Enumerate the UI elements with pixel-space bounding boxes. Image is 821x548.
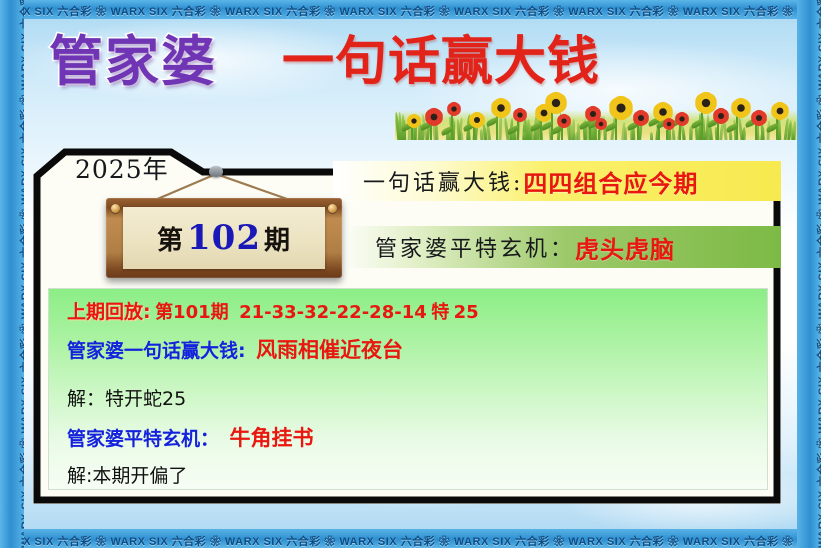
review-special-number: 25 (454, 302, 479, 323)
review-row-tagline: 管家婆一句话赢大钱: 风雨相催近夜台 (67, 334, 403, 364)
hook-icon (209, 166, 223, 177)
border-bottom: WARX SIX 六合彩 ❀ WARX SIX 六合彩 ❀ WARX SIX 六… (0, 529, 821, 548)
border-top: WARX SIX 六合彩 ❀ WARX SIX 六合彩 ❀ WARX SIX 六… (0, 0, 821, 19)
review-tagline-value: 风雨相催近夜台 (256, 338, 403, 362)
banner-mystery: 管家婆平特玄机： 虎头虎脑 (333, 226, 781, 268)
review-mystery-label: 管家婆平特玄机： (67, 428, 219, 450)
review-row-last-draw: 上期回放: 第101期 21-33-32-22-28-14 特 25 (67, 297, 479, 324)
year-label: 2025年 (75, 150, 169, 186)
review-box: 上期回放: 第101期 21-33-32-22-28-14 特 25 管家婆一句… (48, 288, 768, 490)
review-title: 上期回放: (67, 301, 151, 323)
border-right: WARX SIX 六合彩 ❀ WARX SIX 六合彩 ❀ WARX SIX 六… (797, 0, 821, 548)
border-bottom-text: WARX SIX 六合彩 ❀ WARX SIX 六合彩 ❀ WARX SIX 六… (0, 533, 821, 548)
review-mystery-value: 牛角挂书 (229, 426, 313, 450)
border-left-text: WARX SIX 六合彩 ❀ WARX SIX 六合彩 ❀ WARX SIX 六… (17, 0, 24, 548)
issue-sign: 第 102 期 (106, 198, 342, 278)
poster-stage: 管家婆 一句话赢大钱 2025年 第 102 期 (0, 0, 821, 548)
border-left: WARX SIX 六合彩 ❀ WARX SIX 六合彩 ❀ WARX SIX 六… (0, 0, 24, 548)
main-panel: 2025年 第 102 期 一句话赢大钱: 四四组合应今期 管家婆平特玄机： 虎… (33, 130, 781, 504)
issue-number: 102 (187, 218, 261, 258)
border-top-text: WARX SIX 六合彩 ❀ WARX SIX 六合彩 ❀ WARX SIX 六… (0, 3, 821, 19)
banner-mystery-value: 虎头虎脑 (575, 230, 675, 265)
issue-text: 第 102 期 (106, 198, 342, 278)
banner-tagline-value: 四四组合应今期 (523, 164, 698, 199)
border-right-text: WARX SIX 六合彩 ❀ WARX SIX 六合彩 ❀ WARX SIX 六… (814, 0, 821, 548)
review-row-explain-1: 解：特开蛇25 (67, 384, 186, 411)
review-explain-2: 解:本期开偏了 (67, 465, 187, 487)
review-explain-1: 解：特开蛇25 (67, 388, 186, 410)
issue-prefix: 第 (157, 220, 184, 257)
banner-tagline: 一句话赢大钱: 四四组合应今期 (333, 161, 781, 201)
review-row-explain-2: 解:本期开偏了 (67, 461, 187, 488)
banner-mystery-label: 管家婆平特玄机： (375, 231, 575, 263)
review-issue: 第101期 (155, 302, 229, 323)
banner-tagline-label: 一句话赢大钱: (363, 165, 523, 197)
issue-suffix: 期 (264, 220, 291, 257)
review-tagline-label: 管家婆一句话赢大钱: (67, 340, 246, 362)
brand-title: 管家婆 (49, 35, 217, 89)
review-numbers: 21-33-32-22-28-14 (239, 302, 427, 323)
review-special-label: 特 (431, 302, 449, 323)
review-row-mystery: 管家婆平特玄机： 牛角挂书 (67, 422, 313, 452)
